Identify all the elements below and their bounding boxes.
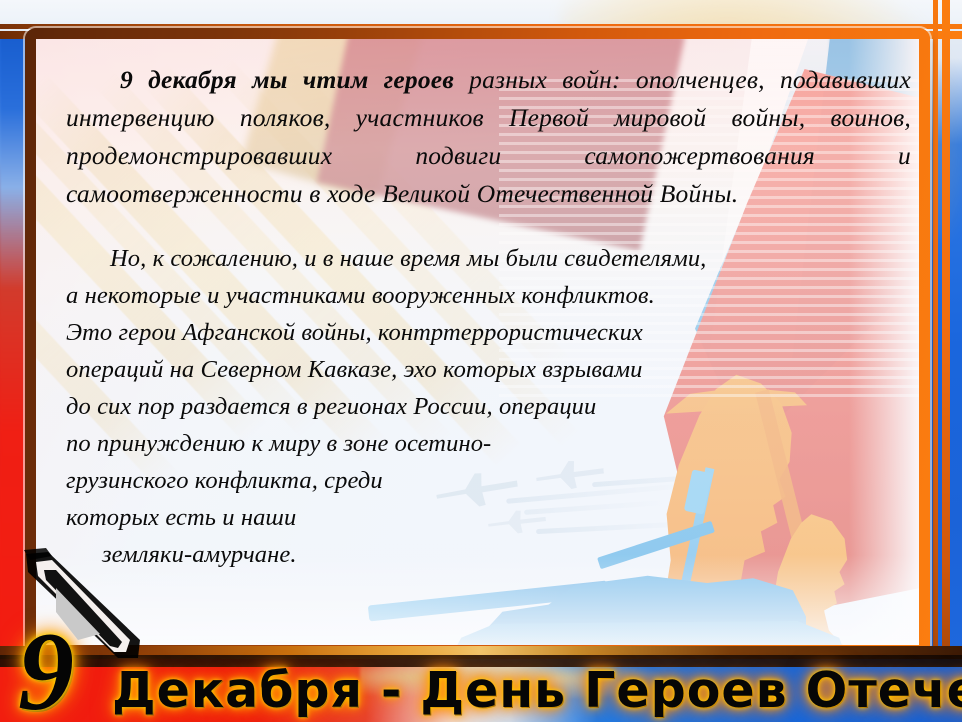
poster-text-block: 9 декабря мы чтим героев разных войн: оп… [36,39,930,656]
orange-rail-right-outer [933,0,938,722]
paragraph-one-lead: 9 декабря мы чтим героев [120,65,454,94]
paragraph-one: 9 декабря мы чтим героев разных войн: оп… [66,61,911,213]
paragraph-two-line: земляки-амурчане. [66,536,907,573]
paragraph-two-line: Это герои Афганской войны, контртеррорис… [66,314,907,351]
corner-ornament-icon [22,548,152,660]
paragraph-two-line: а некоторые и участниками вооруженных ко… [66,277,907,314]
paragraph-two-line: по принуждению к миру в зоне осетино- [66,425,907,462]
paragraph-two-line: Но, к сожалению, и в наше время мы были … [66,240,907,277]
content-card: 9 декабря мы чтим героев разных войн: оп… [25,28,930,656]
banner-title: Декабря - День Героев Отечества [112,665,962,716]
poster-canvas: 9 декабря мы чтим героев разных войн: оп… [0,0,962,722]
paragraph-two-line: операций на Северном Кавказе, эхо которы… [66,351,907,388]
paragraph-two: Но, к сожалению, и в наше время мы были … [66,240,907,573]
paragraph-two-line: которых есть и наши [66,499,907,536]
paragraph-two-line: грузинского конфликта, среди [66,462,907,499]
paragraph-two-line: до сих пор раздается в регионах России, … [66,388,907,425]
orange-rail-right-inner [942,0,950,722]
